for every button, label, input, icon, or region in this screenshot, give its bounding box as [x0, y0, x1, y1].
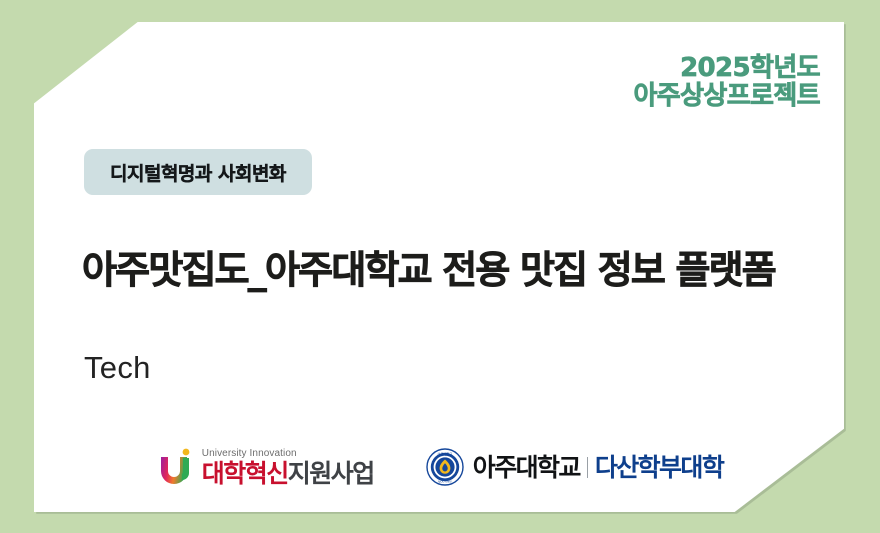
- track-label: Tech: [84, 350, 151, 386]
- university-innovation-logo: University Innovation 대학혁신지원사업: [157, 446, 374, 488]
- svg-text:아주대학교: 아주대학교: [437, 451, 452, 456]
- category-badge-label: 디지털혁명과 사회변화: [110, 159, 286, 186]
- logo-divider: [587, 457, 588, 478]
- academic-year-label: 2025학년도: [633, 54, 820, 82]
- ajou-university-logo: 아주대학교 AJOU UNIV. 아주대학교 다산학부대학: [426, 448, 723, 486]
- year-project-heading: 2025학년도 아주상상프로젝트: [633, 54, 820, 110]
- project-name-label: 아주상상프로젝트: [633, 82, 820, 110]
- ajou-college-name: 다산학부대학: [595, 455, 723, 480]
- svg-text:AJOU UNIV.: AJOU UNIV.: [438, 480, 452, 484]
- ajou-university-name: 아주대학교: [473, 455, 580, 480]
- ui-logo-text: University Innovation 대학혁신지원사업: [202, 449, 374, 486]
- page-title: 아주맛집도_아주대학교 전용 맛집 정보 플랫폼: [82, 248, 822, 293]
- presentation-slide: 2025학년도 아주상상프로젝트 디지털혁명과 사회변화 아주맛집도_아주대학교…: [0, 0, 880, 533]
- footer-logo-row: University Innovation 대학혁신지원사업 아주대학교 AJO…: [0, 446, 880, 488]
- ui-english-label: University Innovation: [202, 449, 374, 459]
- ui-korean-secondary: 지원사업: [288, 459, 374, 488]
- ajou-seal-icon: 아주대학교 AJOU UNIV.: [426, 448, 464, 486]
- ui-korean-label: 대학혁신지원사업: [202, 461, 374, 486]
- ui-monogram-icon: [157, 446, 195, 488]
- ui-korean-primary: 대학혁신: [202, 459, 288, 488]
- ajou-logo-text: 아주대학교 다산학부대학: [473, 455, 723, 480]
- category-badge: 디지털혁명과 사회변화: [84, 149, 312, 195]
